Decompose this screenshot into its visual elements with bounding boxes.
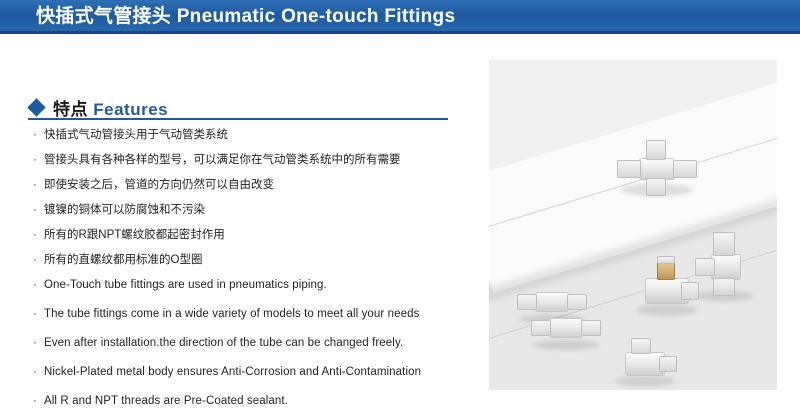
part-body	[535, 292, 569, 312]
list-item: · 即使安装之后，管道的方向仍然可以自由改变	[33, 178, 473, 203]
part-collar-left	[517, 294, 537, 310]
part-collar-top	[646, 140, 666, 160]
bullet-marker: ·	[33, 253, 44, 267]
product-photo	[489, 60, 777, 390]
page-header-banner: 快插式气管接头 Pneumatic One-touch Fittings	[0, 0, 800, 34]
union-tee-fitting	[695, 232, 755, 304]
list-item: · The tube fittings come in a wide varie…	[33, 307, 473, 336]
part-collar-bottom	[646, 178, 666, 196]
list-item: · 管接头具有各种各样的型号，可以满足你在气动管类系统中的所有需要	[33, 153, 473, 178]
bullet-marker: ·	[33, 278, 44, 292]
bullet-marker: ·	[33, 153, 44, 167]
part-collar-right	[659, 356, 677, 372]
part-shadow	[615, 376, 675, 386]
part-collar-right	[673, 160, 697, 178]
part-body	[639, 158, 675, 180]
part-collar-right	[681, 282, 699, 300]
part-collar-top	[713, 232, 735, 256]
features-heading-en: Features	[93, 100, 168, 119]
list-item-text: 管接头具有各种各样的型号，可以满足你在气动管类系统中的所有需要	[44, 153, 401, 167]
part-collar-bottom	[713, 278, 735, 296]
page-title-en: Pneumatic One-touch Fittings	[177, 6, 456, 27]
bullet-marker: ·	[33, 203, 44, 217]
list-item-text: 所有的R跟NPT螺纹胶都起密封作用	[44, 228, 225, 242]
bullet-marker: ·	[33, 228, 44, 242]
features-list: · 快插式气动管接头用于气动管类系统 · 管接头具有各种各样的型号，可以满足你在…	[33, 128, 473, 413]
list-item-text: 所有的直螺纹都用标准的O型圈	[44, 253, 202, 267]
features-heading-cn: 特点	[53, 100, 88, 119]
list-item: · Even after installation.the direction …	[33, 336, 473, 365]
catalog-page: 快插式气管接头 Pneumatic One-touch Fittings 特点 …	[0, 0, 800, 413]
part-collar-right	[581, 320, 601, 336]
straight-union-fitting-b	[531, 314, 601, 346]
features-heading-text: 特点 Features	[53, 95, 168, 120]
part-collar-right	[567, 294, 587, 310]
part-body	[549, 318, 583, 338]
features-heading: 特点 Features	[30, 95, 168, 120]
elbow-fitting	[615, 338, 677, 384]
list-item: · 快插式气动管接头用于气动管类系统	[33, 128, 473, 153]
list-item: · 所有的直螺纹都用标准的O型圈	[33, 253, 473, 278]
brass-male-elbow-fitting	[637, 256, 699, 314]
list-item-text: Even after installation.the direction of…	[44, 336, 403, 350]
heading-divider	[28, 118, 448, 120]
page-title-cn: 快插式气管接头	[36, 6, 171, 27]
list-item: · 所有的R跟NPT螺纹胶都起密封作用	[33, 228, 473, 253]
list-item-text: 快插式气动管接头用于气动管类系统	[44, 128, 228, 142]
list-item-text: The tube fittings come in a wide variety…	[44, 307, 420, 321]
bullet-marker: ·	[33, 394, 44, 408]
list-item-text: 镀镍的铜体可以防腐蚀和不污染	[44, 203, 205, 217]
part-collar-left	[617, 160, 641, 178]
part-collar-left	[531, 320, 551, 336]
page-title: 快插式气管接头 Pneumatic One-touch Fittings	[36, 3, 455, 31]
list-item: · 镀镍的铜体可以防腐蚀和不污染	[33, 203, 473, 228]
part-shadow	[533, 340, 599, 350]
list-item: · Nickel-Plated metal body ensures Anti-…	[33, 365, 473, 394]
list-item-text: 即使安装之后，管道的方向仍然可以自由改变	[44, 178, 274, 192]
bullet-marker: ·	[33, 365, 44, 379]
part-brass-thread	[657, 262, 675, 280]
bullet-marker: ·	[33, 178, 44, 192]
list-item-text: All R and NPT threads are Pre-Coated sea…	[44, 394, 288, 408]
bullet-marker: ·	[33, 336, 44, 350]
bullet-marker: ·	[33, 307, 44, 321]
diamond-bullet-icon	[27, 98, 45, 116]
part-body	[711, 254, 741, 280]
list-item-text: Nickel-Plated metal body ensures Anti-Co…	[44, 365, 421, 379]
list-item: · All R and NPT threads are Pre-Coated s…	[33, 394, 473, 413]
bullet-marker: ·	[33, 128, 44, 142]
part-shadow	[637, 304, 697, 316]
part-collar-top	[657, 256, 675, 264]
list-item: · One-Touch tube fittings are used in pn…	[33, 278, 473, 307]
list-item-text: One-Touch tube fittings are used in pneu…	[44, 278, 327, 292]
part-collar-top	[631, 338, 651, 354]
cross-fitting	[617, 140, 697, 200]
